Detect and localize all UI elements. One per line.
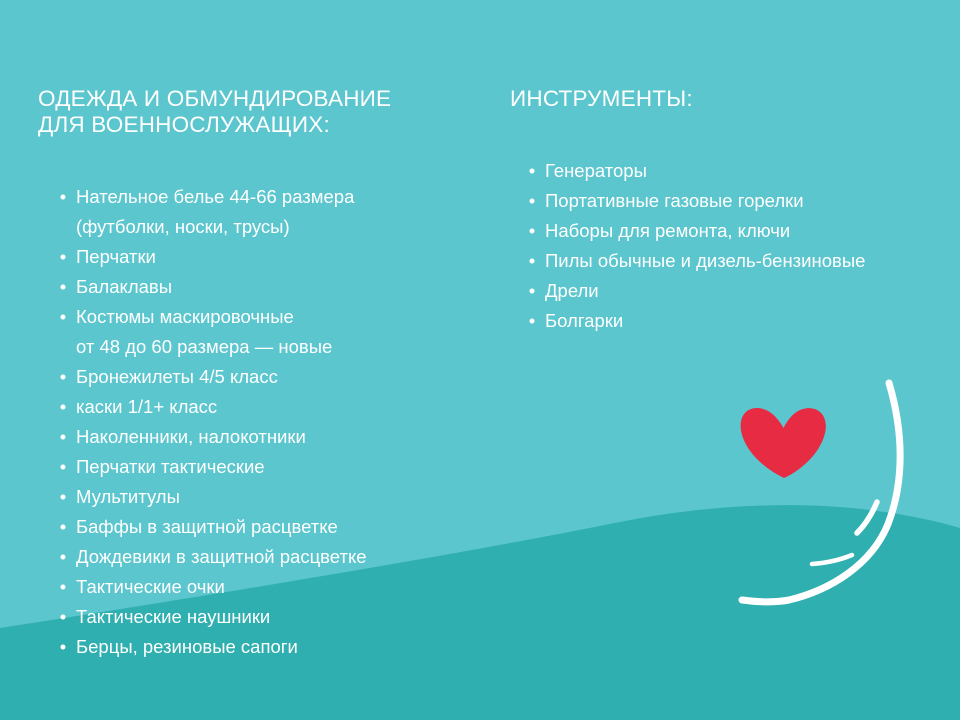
clothing-item: •Нательное белье 44-66 размера (футболки…	[38, 182, 488, 242]
tools-item-label: Дрели	[545, 280, 599, 301]
tools-item-label: Генераторы	[545, 160, 647, 181]
tools-item: •Болгарки	[510, 306, 950, 336]
clothing-item-label: Тактические очки	[76, 576, 225, 597]
clothing-item-label: Дождевики в защитной расцветке	[76, 546, 367, 567]
clothing-item: •каски 1/1+ класс	[38, 392, 488, 422]
tools-item: •Генераторы	[510, 156, 950, 186]
clothing-item: •Бронежилеты 4/5 класс	[38, 362, 488, 392]
clothing-item-label: Костюмы маскировочные от 48 до 60 размер…	[76, 306, 332, 357]
bullet-dot-icon: •	[527, 216, 537, 246]
tools-item-label: Пилы обычные и дизель-бензиновые	[545, 250, 865, 271]
tools-item-label: Портативные газовые горелки	[545, 190, 804, 211]
clothing-item: •Перчатки тактические	[38, 452, 488, 482]
clothing-item: •Наколенники, налокотники	[38, 422, 488, 452]
bullet-dot-icon: •	[58, 362, 68, 392]
tools-item: •Пилы обычные и дизель-бензиновые	[510, 246, 950, 276]
clothing-item: •Балаклавы	[38, 272, 488, 302]
clothing-column: ОДЕЖДА И ОБМУНДИРОВАНИЕ ДЛЯ ВОЕННОСЛУЖАЩ…	[38, 86, 488, 662]
bullet-dot-icon: •	[527, 246, 537, 276]
bullet-dot-icon: •	[58, 272, 68, 302]
bullet-dot-icon: •	[58, 572, 68, 602]
clothing-item-label: Бронежилеты 4/5 класс	[76, 366, 278, 387]
tools-item: •Наборы для ремонта, ключи	[510, 216, 950, 246]
clothing-item: •Тактические очки	[38, 572, 488, 602]
bullet-dot-icon: •	[58, 452, 68, 482]
bullet-dot-icon: •	[58, 512, 68, 542]
slide-canvas: ОДЕЖДА И ОБМУНДИРОВАНИЕ ДЛЯ ВОЕННОСЛУЖАЩ…	[0, 0, 960, 720]
bullet-dot-icon: •	[58, 632, 68, 662]
clothing-item: •Мультитулы	[38, 482, 488, 512]
bullet-dot-icon: •	[58, 422, 68, 452]
bullet-dot-icon: •	[527, 276, 537, 306]
bullet-dot-icon: •	[527, 156, 537, 186]
tools-column: ИНСТРУМЕНТЫ: •Генераторы•Портативные газ…	[510, 86, 950, 336]
tools-item: •Дрели	[510, 276, 950, 306]
clothing-item-label: Балаклавы	[76, 276, 172, 297]
bullet-dot-icon: •	[58, 602, 68, 632]
clothing-item: •Берцы, резиновые сапоги	[38, 632, 488, 662]
clothing-item-label: Нательное белье 44-66 размера (футболки,…	[76, 186, 354, 237]
clothing-item-label: Перчатки тактические	[76, 456, 265, 477]
tools-list: •Генераторы•Портативные газовые горелки•…	[510, 156, 950, 336]
tools-item: •Портативные газовые горелки	[510, 186, 950, 216]
bullet-dot-icon: •	[58, 182, 68, 212]
bullet-dot-icon: •	[527, 186, 537, 216]
clothing-column-title: ОДЕЖДА И ОБМУНДИРОВАНИЕ ДЛЯ ВОЕННОСЛУЖАЩ…	[38, 86, 488, 138]
bullet-dot-icon: •	[58, 302, 68, 332]
clothing-item: •Перчатки	[38, 242, 488, 272]
tools-item-label: Наборы для ремонта, ключи	[545, 220, 790, 241]
bullet-dot-icon: •	[527, 306, 537, 336]
clothing-item-label: Тактические наушники	[76, 606, 270, 627]
tools-column-title: ИНСТРУМЕНТЫ:	[510, 86, 950, 112]
clothing-item-label: Мультитулы	[76, 486, 180, 507]
clothing-item-label: Баффы в защитной расцветке	[76, 516, 338, 537]
bullet-dot-icon: •	[58, 242, 68, 272]
tools-item-label: Болгарки	[545, 310, 623, 331]
clothing-item: •Баффы в защитной расцветке	[38, 512, 488, 542]
clothing-item-label: Наколенники, налокотники	[76, 426, 306, 447]
clothing-item-label: Берцы, резиновые сапоги	[76, 636, 298, 657]
clothing-list: •Нательное белье 44-66 размера (футболки…	[38, 182, 488, 662]
clothing-item: •Дождевики в защитной расцветке	[38, 542, 488, 572]
bullet-dot-icon: •	[58, 542, 68, 572]
clothing-item-label: Перчатки	[76, 246, 156, 267]
clothing-item: •Костюмы маскировочные от 48 до 60 разме…	[38, 302, 488, 362]
clothing-item: •Тактические наушники	[38, 602, 488, 632]
clothing-item-label: каски 1/1+ класс	[76, 396, 217, 417]
bullet-dot-icon: •	[58, 392, 68, 422]
bullet-dot-icon: •	[58, 482, 68, 512]
